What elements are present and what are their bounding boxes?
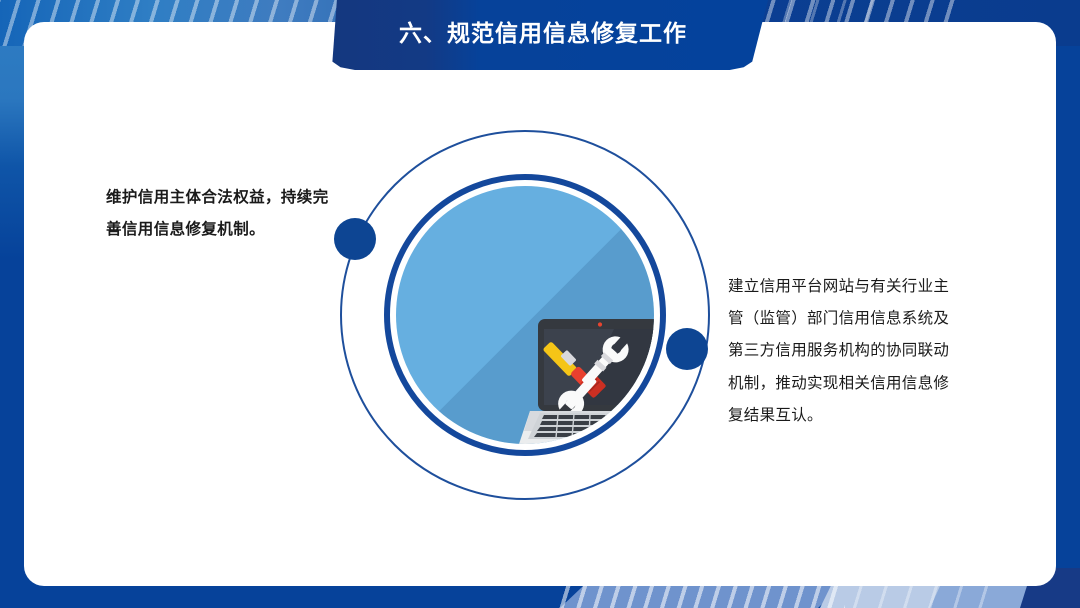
inner-disc	[396, 186, 654, 444]
orbit-node-right	[666, 328, 708, 370]
orbit-diagram	[318, 108, 738, 508]
callout-right-text: 建立信用平台网站与有关行业主管（监管）部门信用信息系统及第三方信用服务机构的协同…	[728, 270, 964, 431]
orbit-node-left	[334, 218, 376, 260]
slide-root: 六、规范信用信息修复工作	[0, 0, 1080, 608]
page-title: 六、规范信用信息修复工作	[318, 0, 768, 62]
laptop-tools-icon	[518, 311, 654, 444]
callout-left-text: 维护信用主体合法权益，持续完善信用信息修复机制。	[106, 182, 338, 246]
